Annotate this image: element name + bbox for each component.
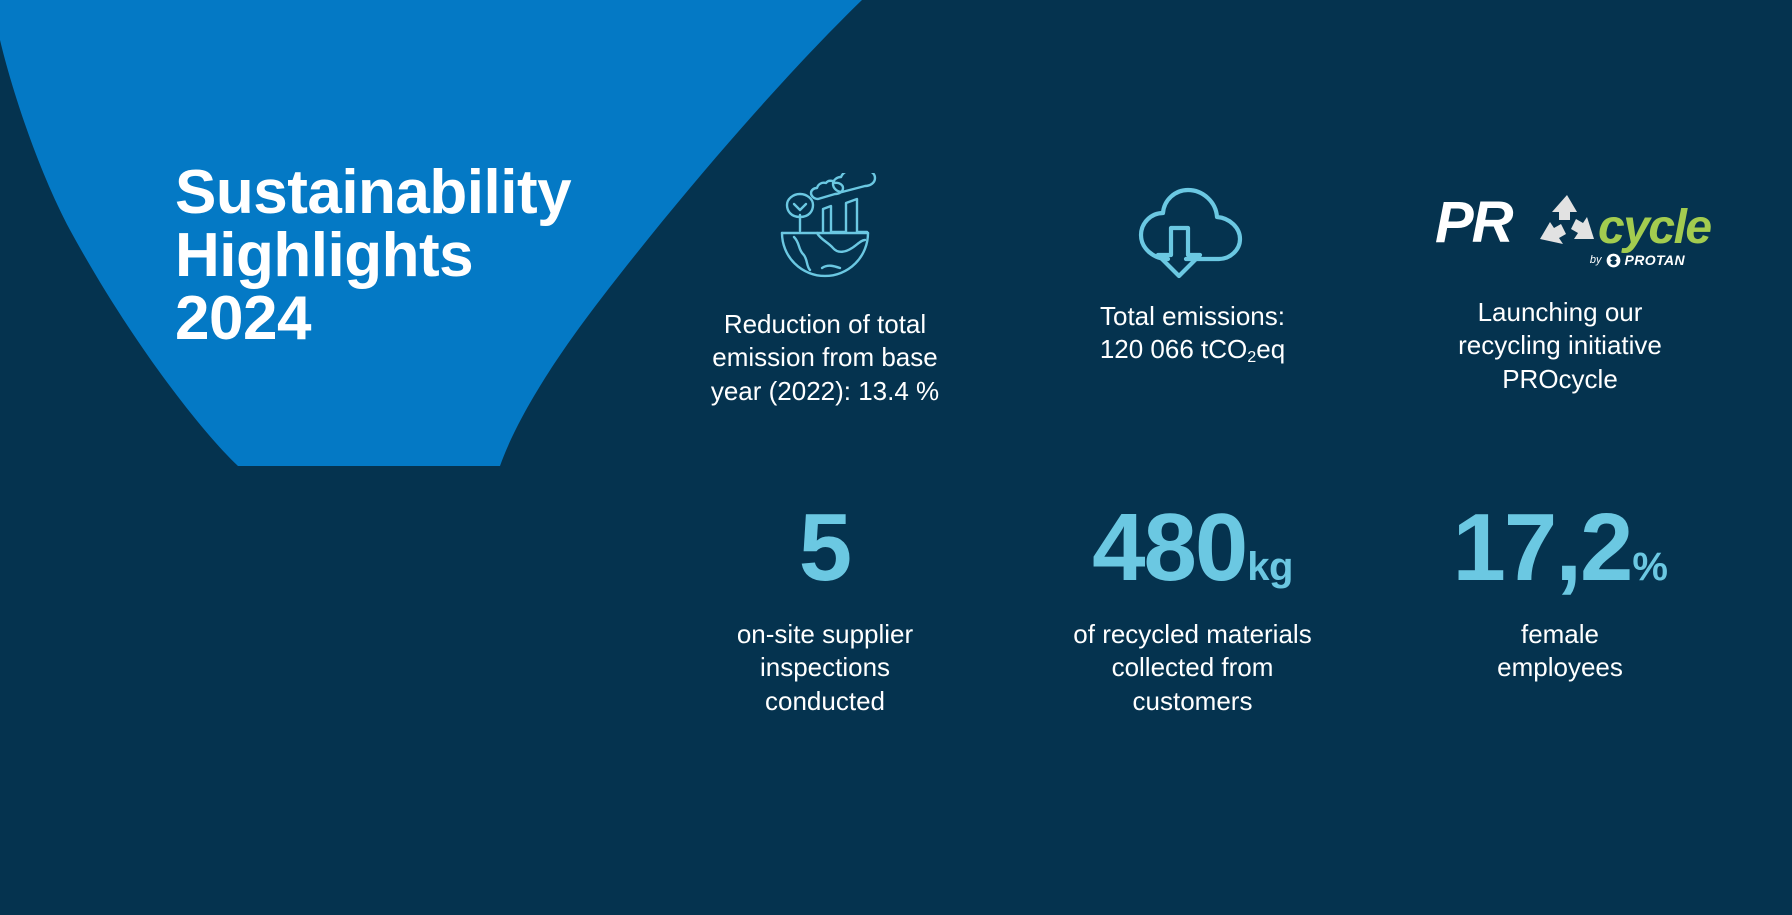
cloud-download-emissions-icon xyxy=(1131,170,1255,288)
protan-mark-icon xyxy=(1606,253,1621,268)
stat-value: 17,2 xyxy=(1453,500,1632,596)
caption-line-1: on-site supplier xyxy=(737,619,913,649)
procycle-logo-pro-text: PR xyxy=(1435,194,1512,252)
page-title: Sustainability Highlights 2024 xyxy=(175,162,645,351)
stat-value: 480 xyxy=(1092,500,1246,596)
recycle-arrows-icon xyxy=(1536,193,1598,258)
caption-line-1: Reduction of total xyxy=(724,309,926,339)
procycle-logo: PR cycle xyxy=(1435,170,1685,288)
caption-line-2: emission from base xyxy=(712,342,937,372)
stat-supplier-inspections: 5 on-site supplier inspections conducted xyxy=(660,500,990,718)
caption-line-2: recycling initiative xyxy=(1458,330,1662,360)
caption-subscript: 2 xyxy=(1247,348,1256,366)
stat-procycle-caption: Launching our recycling initiative PROcy… xyxy=(1458,296,1662,396)
caption-line-1: of recycled materials xyxy=(1073,619,1311,649)
stat-recycled-materials-caption: of recycled materials collected from cus… xyxy=(1073,618,1311,718)
caption-line-3: conducted xyxy=(765,686,885,716)
globe-factory-emissions-icon xyxy=(770,170,880,288)
stat-total-emissions: Total emissions: 120 066 tCO2eq xyxy=(1028,170,1358,367)
procycle-logo-cycle-text: cycle xyxy=(1598,204,1711,252)
stat-unit: % xyxy=(1632,547,1667,587)
caption-line-3: PROcycle xyxy=(1502,364,1618,394)
top-stats-row: Reduction of total emission from base ye… xyxy=(660,170,1725,408)
sustainability-highlights-poster: Sustainability Highlights 2024 xyxy=(0,0,1792,915)
byline-by-text: by xyxy=(1590,254,1602,266)
caption-line-2: collected from xyxy=(1112,652,1274,682)
caption-line-2-pre: 120 066 tCO xyxy=(1100,334,1247,364)
byline-brand-text: PROTAN xyxy=(1625,252,1685,268)
caption-line-1: Total emissions: xyxy=(1100,301,1285,331)
bottom-stats-row: 5 on-site supplier inspections conducted… xyxy=(660,500,1725,718)
stat-supplier-inspections-value-group: 5 xyxy=(799,500,851,600)
stat-emission-reduction-caption: Reduction of total emission from base ye… xyxy=(711,308,939,408)
stat-recycled-materials: 480kg of recycled materials collected fr… xyxy=(1028,500,1358,718)
blue-curved-wedge xyxy=(0,0,1792,915)
caption-line-1: Launching our xyxy=(1478,297,1643,327)
caption-line-2: employees xyxy=(1497,652,1623,682)
stat-value: 5 xyxy=(799,500,850,596)
stat-emission-reduction: Reduction of total emission from base ye… xyxy=(660,170,990,408)
stat-female-employees-value-group: 17,2% xyxy=(1453,500,1668,600)
stat-procycle-initiative: PR cycle xyxy=(1395,170,1725,396)
procycle-logo-byline: by PROTAN xyxy=(1590,252,1685,268)
stat-total-emissions-caption: Total emissions: 120 066 tCO2eq xyxy=(1100,300,1285,367)
stat-recycled-materials-value-group: 480kg xyxy=(1092,500,1293,600)
caption-line-2: inspections xyxy=(760,652,890,682)
caption-line-2-post: eq xyxy=(1256,334,1285,364)
title-line-3: 2024 xyxy=(175,288,645,351)
caption-line-3: customers xyxy=(1133,686,1253,716)
stat-unit: kg xyxy=(1247,547,1293,587)
stat-supplier-inspections-caption: on-site supplier inspections conducted xyxy=(737,618,913,718)
title-line-2: Highlights xyxy=(175,225,645,288)
caption-line-3: year (2022): 13.4 % xyxy=(711,376,939,406)
title-line-1: Sustainability xyxy=(175,162,645,225)
stat-female-employees-caption: female employees xyxy=(1497,618,1623,685)
stat-female-employees: 17,2% female employees xyxy=(1395,500,1725,685)
caption-line-1: female xyxy=(1521,619,1599,649)
